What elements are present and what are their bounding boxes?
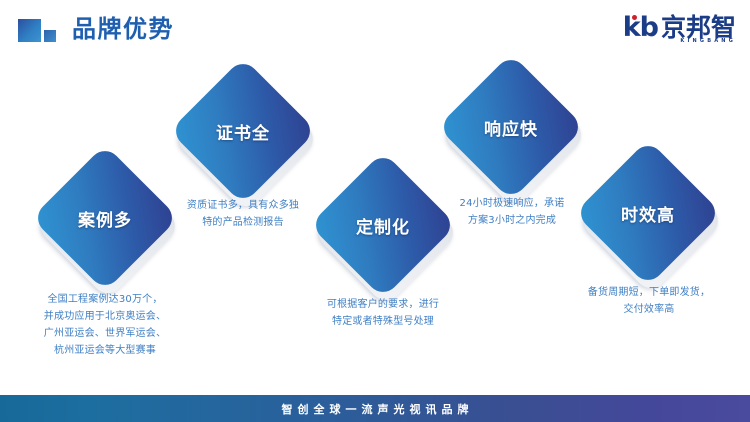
footer-slogan: 智创全球一流声光视讯品牌	[277, 401, 474, 417]
advantage-item-3[interactable]: 定制化	[331, 173, 435, 277]
advantage-item-4[interactable]: 响应快	[459, 75, 563, 179]
logo-chinese-name: 京邦智	[661, 14, 736, 41]
logo-pinyin-name: KINGBANG	[680, 38, 736, 44]
advantage-label-4: 响应快	[459, 75, 563, 179]
advantage-item-2[interactable]: 证书全	[191, 79, 295, 183]
advantage-label-3: 定制化	[331, 173, 435, 277]
advantage-label-5: 时效高	[596, 161, 700, 265]
advantage-label-1: 案例多	[53, 166, 157, 270]
diamond-shape-3: 定制化	[331, 173, 435, 277]
advantage-caption-5: 备货周期短，下单即发货， 交付效率高	[558, 284, 740, 318]
advantage-item-5[interactable]: 时效高	[596, 161, 700, 265]
advantage-label-2: 证书全	[191, 79, 295, 183]
brand-logo: kb 京邦智 KINGBANG	[623, 14, 736, 44]
advantage-caption-4: 24小时极速响应，承诺 方案3小时之内完成	[423, 195, 601, 229]
diamond-shape-2: 证书全	[191, 79, 295, 183]
square-small-icon	[44, 30, 56, 42]
diamond-shape-1: 案例多	[53, 166, 157, 270]
advantage-caption-3: 可根据客户的要求，进行 特定或者特殊型号处理	[293, 296, 473, 330]
logo-mark-text: kb	[623, 14, 658, 42]
square-gradient-icon	[18, 19, 41, 42]
page-title: 品牌优势	[72, 16, 174, 42]
page-footer: 智创全球一流声光视讯品牌	[0, 395, 750, 422]
advantage-caption-1: 全国工程案例达30万个， 并成功应用于北京奥运会、 广州亚运会、世界军运会、 杭…	[12, 291, 198, 359]
diamond-shape-4: 响应快	[459, 75, 563, 179]
advantage-caption-2: 资质证书多，具有众多独 特的产品检测报告	[153, 197, 333, 231]
advantage-item-1[interactable]: 案例多	[53, 166, 157, 270]
logo-dot-icon	[632, 15, 637, 20]
advantages-stage: 案例多 全国工程案例达30万个， 并成功应用于北京奥运会、 广州亚运会、世界军运…	[0, 56, 750, 396]
title-group: 品牌优势	[18, 16, 174, 42]
diamond-shape-5: 时效高	[596, 161, 700, 265]
page-header: 品牌优势 kb 京邦智 KINGBANG	[0, 0, 750, 56]
